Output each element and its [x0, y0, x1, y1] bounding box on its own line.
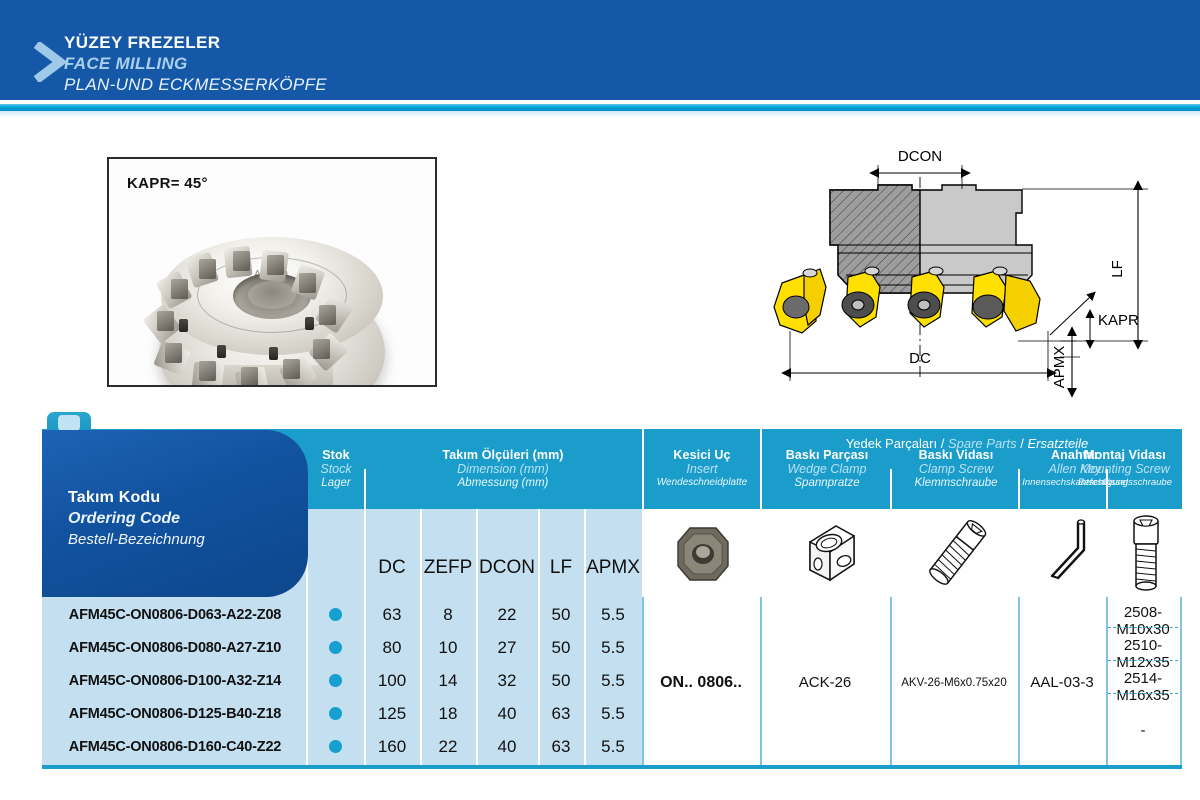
dimension-label-en: Dimension (mm) [364, 462, 642, 476]
mill-clamp [217, 345, 226, 358]
table-row: AFM45C-ON0806-D125-B40-Z18 [42, 706, 308, 722]
dim-dc: DC [790, 331, 1048, 381]
clamp-screw-label-de: Klemmschraube [892, 476, 1020, 490]
mill-insert [199, 259, 216, 279]
cell-lf: 50 [538, 605, 584, 625]
subcolumn-dc: DC [364, 557, 420, 579]
cell-zefp: 8 [420, 605, 476, 625]
cell-allen-key-code: AAL-03-3 [1018, 674, 1106, 691]
wedge-clamp-label-de: Spannpratze [762, 476, 892, 490]
face-mill-photo: AKKO [109, 159, 435, 385]
cell-apmx: 5.5 [584, 737, 642, 757]
ordering-code-tr: Takım Kodu [68, 489, 160, 507]
insert-label-en: Insert [642, 462, 762, 476]
banner-divider-cyan [0, 104, 1200, 111]
stock-label-en: Stock [308, 462, 364, 476]
clamp-screw-label-tr: Baskı Vidası [892, 448, 1020, 462]
subheader-divider [584, 509, 586, 597]
cell-zefp: 22 [420, 737, 476, 757]
ordering-code-en: Ordering Code [68, 510, 180, 528]
subheader-divider [420, 509, 422, 597]
cell-lf: 63 [538, 737, 584, 757]
column-header-stock: Stok Stock Lager [308, 448, 364, 490]
table-row: AFM45C-ON0806-D080-A27-Z10 [42, 640, 308, 656]
chevron-right-icon [34, 42, 68, 82]
cell-lf: 50 [538, 638, 584, 658]
insert-icon [672, 516, 734, 590]
banner-title-de: PLAN-UND ECKMESSERKÖPFE [64, 74, 327, 95]
cell-lf: 50 [538, 671, 584, 691]
subheader-divider [538, 509, 540, 597]
cell-clamp-screw-code: AKV-26-M6x0.75x20 [890, 677, 1018, 689]
product-table: Yedek Parçaları / Spare Parts / Ersatzte… [42, 412, 1182, 770]
cell-zefp: 18 [420, 704, 476, 724]
mounting-screw-icon [1116, 512, 1174, 594]
ordering-code-de: Bestell-Bezeichnung [68, 531, 205, 548]
mounting-screw-label-tr: Montaj Vidası [1068, 448, 1182, 462]
table-bottom-border [42, 765, 1182, 769]
mounting-screw-label-de: Befestigungsschraube [1068, 476, 1182, 490]
cell-dcon: 40 [476, 704, 538, 724]
table-row: AFM45C-ON0806-D160-C40-Z22 [42, 739, 308, 755]
cell-lf: 63 [538, 704, 584, 724]
cell-mounting-screw: 2514-M16x35 [1106, 670, 1180, 704]
header-divider [760, 429, 762, 509]
stock-dot [329, 641, 342, 654]
cell-apmx: 5.5 [584, 605, 642, 625]
mill-insert [267, 255, 284, 275]
column-header-wedge-clamp: Baskı Parçası Wedge Clamp Spannpratze [762, 448, 892, 490]
insert-label-de: Wendeschneidplatte [642, 476, 762, 490]
header-divider [1106, 469, 1108, 509]
stock-label-de: Lager [308, 476, 364, 490]
cell-zefp: 14 [420, 671, 476, 691]
mounting-screw-divider [1108, 693, 1178, 694]
dim-apmx: APMX [1051, 335, 1080, 389]
mill-clamp [269, 347, 278, 360]
cell-apmx: 5.5 [584, 704, 642, 724]
mill-insert [199, 361, 216, 381]
mill-insert [283, 359, 300, 379]
ordering-code-header: Takım Kodu Ordering Code Bestell-Bezeich… [42, 430, 308, 597]
mill-insert [319, 305, 336, 325]
technical-drawing: DCON LF DC KAPR APMX [760, 145, 1180, 400]
cell-wedge-clamp-code: ACK-26 [760, 674, 890, 691]
wedge-clamp-label-en: Wedge Clamp [762, 462, 892, 476]
stock-dot [329, 608, 342, 621]
insert-label-tr: Kesici Uç [642, 448, 762, 462]
subheader-divider [476, 509, 478, 597]
header-divider [642, 429, 644, 509]
cell-dc: 125 [364, 704, 420, 724]
allen-key-icon [1042, 516, 1104, 590]
cell-dcon: 27 [476, 638, 538, 658]
dim-apmx-label: APMX [1051, 346, 1068, 389]
page-banner: YÜZEY FREZELER FACE MILLING PLAN-UND ECK… [0, 0, 1200, 100]
banner-title-en: FACE MILLING [64, 53, 327, 74]
stock-dot [329, 740, 342, 753]
dim-lf-label: LF [1109, 260, 1126, 278]
mounting-screw-divider [1108, 627, 1178, 628]
banner-titles: YÜZEY FREZELER FACE MILLING PLAN-UND ECK… [64, 32, 327, 95]
mill-insert [313, 339, 330, 359]
dim-kapr-label: KAPR [1098, 312, 1139, 329]
cell-mounting-screw: 2508-M10x30 [1106, 604, 1180, 638]
cell-zefp: 10 [420, 638, 476, 658]
dim-kapr: KAPR [1050, 297, 1139, 341]
kapr-angle-label: KAPR= 45° [127, 175, 208, 192]
product-photo-panel: KAPR= 45° AKKO [107, 157, 437, 387]
dimension-label-de: Abmessung (mm) [364, 476, 642, 490]
banner-title-tr: YÜZEY FREZELER [64, 32, 327, 53]
mounting-screw-divider [1108, 660, 1178, 661]
column-header-dimension: Takım Ölçüleri (mm) Dimension (mm) Abmes… [364, 448, 642, 490]
table-row: AFM45C-ON0806-D100-A32-Z14 [42, 673, 308, 689]
subcolumn-dcon: DCON [476, 557, 538, 579]
cell-dc: 63 [364, 605, 420, 625]
wedge-clamp-icon [796, 516, 862, 590]
clamp-screw-icon [922, 514, 990, 592]
subcolumn-lf: LF [538, 557, 584, 579]
header-divider [1018, 469, 1020, 509]
cell-dc: 160 [364, 737, 420, 757]
column-header-clamp-screw: Baskı Vidası Clamp Screw Klemmschraube [892, 448, 1020, 490]
clamp-screw-label-en: Clamp Screw [892, 462, 1020, 476]
mill-clamp [305, 317, 314, 330]
cell-apmx: 5.5 [584, 638, 642, 658]
body-divider [1180, 597, 1182, 765]
cell-dcon: 22 [476, 605, 538, 625]
mill-insert [171, 279, 188, 299]
mill-insert [233, 251, 250, 271]
stock-dot [329, 707, 342, 720]
table-row: AFM45C-ON0806-D063-A22-Z08 [42, 607, 308, 623]
stock-dot [329, 674, 342, 687]
cell-dc: 100 [364, 671, 420, 691]
stock-label-tr: Stok [308, 448, 364, 462]
cell-mounting-screw-merged: - [1106, 722, 1180, 739]
cell-apmx: 5.5 [584, 671, 642, 691]
subheader-divider [364, 509, 366, 597]
column-header-mounting-screw: Montaj Vidası Mounting Screw Befestigung… [1068, 448, 1182, 490]
column-header-insert: Kesici Uç Insert Wendeschneidplatte [642, 448, 762, 490]
wedge-clamp-label-tr: Baskı Parçası [762, 448, 892, 462]
dim-dcon-label: DCON [898, 148, 942, 165]
cutter-cross-section [774, 177, 1040, 381]
mounting-screw-label-en: Mounting Screw [1068, 462, 1182, 476]
subcolumn-zefp: ZEFP [420, 557, 476, 579]
cell-dcon: 40 [476, 737, 538, 757]
dim-dc-label: DC [909, 350, 931, 367]
banner-divider-fade [0, 111, 1200, 118]
mill-insert [299, 273, 316, 293]
mill-bore-inner [248, 281, 296, 309]
header-divider [364, 469, 366, 509]
cell-dcon: 32 [476, 671, 538, 691]
cell-dc: 80 [364, 638, 420, 658]
mill-insert [165, 343, 182, 363]
cell-mounting-screw: 2510-M12x35 [1106, 637, 1180, 671]
mill-clamp [179, 319, 188, 332]
mill-insert [157, 311, 174, 331]
subcolumn-apmx: APMX [584, 557, 642, 579]
header-divider [890, 469, 892, 509]
catalog-page: YÜZEY FREZELER FACE MILLING PLAN-UND ECK… [0, 0, 1200, 800]
cell-insert-code: ON.. 0806.. [642, 674, 760, 692]
mill-insert [241, 367, 258, 387]
dimension-label-tr: Takım Ölçüleri (mm) [364, 448, 642, 462]
